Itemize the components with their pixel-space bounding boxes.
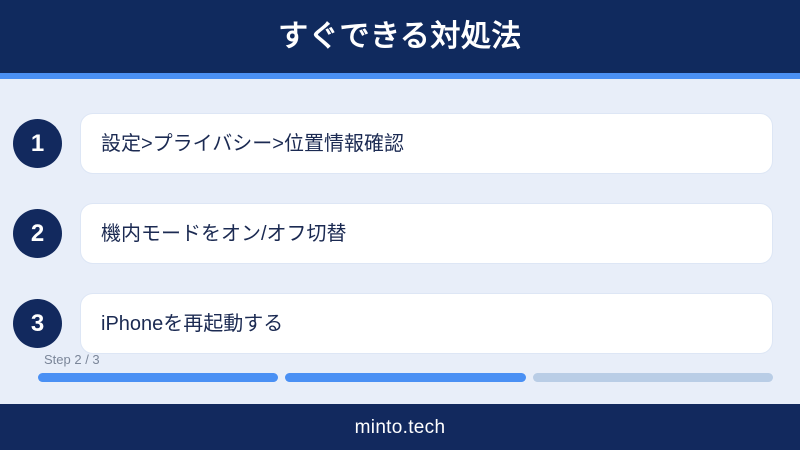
- progress-segment-1: [38, 373, 278, 382]
- page-title: すぐできる対処法: [278, 22, 522, 52]
- progress-segment-2: [285, 373, 525, 382]
- steps-list: 1 設定>プライバシー>位置情報確認 2 機内モードをオン/オフ切替 3 iPh…: [0, 113, 800, 383]
- step-card[interactable]: 設定>プライバシー>位置情報確認: [80, 113, 773, 174]
- step-card[interactable]: iPhoneを再起動する: [80, 293, 773, 354]
- brand-label: minto.tech: [355, 418, 446, 437]
- slide-root: すぐできる対処法 1 設定>プライバシー>位置情報確認 2 機内モードをオン/オ…: [0, 0, 800, 450]
- content-area: 1 設定>プライバシー>位置情報確認 2 機内モードをオン/オフ切替 3 iPh…: [0, 79, 800, 404]
- header-bar: すぐできる対処法: [0, 0, 800, 73]
- list-item: 3 iPhoneを再起動する: [0, 293, 800, 354]
- progress-step-label: Step 2 / 3: [44, 353, 100, 366]
- list-item: 1 設定>プライバシー>位置情報確認: [0, 113, 800, 174]
- list-item: 2 機内モードをオン/オフ切替: [0, 203, 800, 264]
- step-card[interactable]: 機内モードをオン/オフ切替: [80, 203, 773, 264]
- step-label: 機内モードをオン/オフ切替: [81, 222, 347, 246]
- step-label: iPhoneを再起動する: [81, 312, 283, 336]
- step-label: 設定>プライバシー>位置情報確認: [81, 132, 404, 156]
- step-number-badge: 3: [13, 299, 62, 348]
- step-number-badge: 2: [13, 209, 62, 258]
- progress-bar[interactable]: [38, 373, 773, 382]
- footer-bar: minto.tech: [0, 404, 800, 450]
- progress-segment-3: [533, 373, 773, 382]
- step-number-badge: 1: [13, 119, 62, 168]
